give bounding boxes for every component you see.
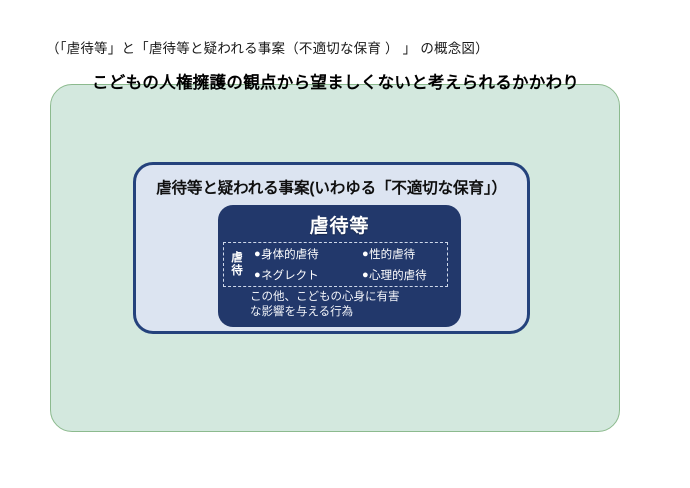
middle-blue-box: 虐待等と疑われる事案(いわゆる「不適切な保育」） 虐待等 虐 待 ● 身体的虐待… [133, 162, 530, 334]
bullet-icon: ● [362, 249, 369, 260]
abuse-type-label: 身体的虐待 [261, 246, 319, 262]
bullet-icon: ● [254, 249, 261, 260]
abuse-type-item: ● 性的虐待 [362, 246, 447, 262]
vertical-label-char-2: 待 [226, 265, 248, 278]
abuse-type-item: ● 心理的虐待 [362, 267, 447, 283]
page-title: こどもの人権擁護の観点から望ましくないと考えられるかかわり [92, 71, 579, 95]
inner-box-note-line: この他、こどもの心身に有害 [250, 290, 455, 305]
inner-box-label: 虐待等 [218, 211, 461, 238]
abuse-types-dashed-region: 虐 待 ● 身体的虐待 ● 性的虐待 ● ネグレクト ● 心理的虐待 [223, 242, 448, 287]
abuse-type-label: 性的虐待 [369, 246, 415, 262]
abuse-type-label: 心理的虐待 [369, 267, 427, 283]
inner-box-note: この他、こどもの心身に有害 な影響を与える行為 [250, 290, 455, 320]
inner-navy-box: 虐待等 虐 待 ● 身体的虐待 ● 性的虐待 ● ネグレクト [218, 205, 461, 327]
inner-box-note-line: な影響を与える行為 [250, 305, 455, 320]
abuse-type-item: ● ネグレクト [254, 267, 362, 283]
abuse-type-item: ● 身体的虐待 [254, 246, 362, 262]
abuse-types-grid: ● 身体的虐待 ● 性的虐待 ● ネグレクト ● 心理的虐待 [248, 244, 447, 286]
vertical-label-char-1: 虐 [226, 252, 248, 265]
diagram-subtitle: （「虐待等」と「虐待等と疑われる事案（不適切な保育 ） 」 の概念図） [46, 39, 489, 59]
vertical-label-gyakutai: 虐 待 [226, 252, 248, 277]
bullet-icon: ● [254, 270, 261, 281]
bullet-icon: ● [362, 270, 369, 281]
abuse-type-label: ネグレクト [261, 267, 319, 283]
middle-box-label: 虐待等と疑われる事案(いわゆる「不適切な保育」） [136, 176, 527, 198]
